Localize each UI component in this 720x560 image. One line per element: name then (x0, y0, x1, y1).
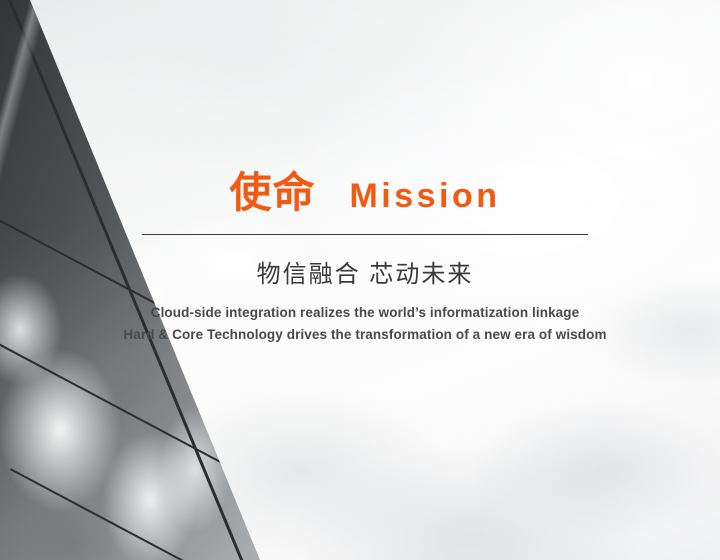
subtitle: 物信融合 芯动未来 (142, 258, 588, 292)
description-line-2: Hard & Core Technology drives the transf… (40, 324, 690, 346)
description-line-1: Cloud-side integration realizes the worl… (40, 302, 690, 324)
description-block: Cloud-side integration realizes the worl… (40, 302, 690, 346)
text-content: 使命 Mission 物信融合 芯动未来 Cloud-side integrat… (0, 0, 720, 560)
page-title: 使命 Mission (142, 172, 588, 214)
page-title-en: Mission (349, 179, 500, 213)
mission-slide: 使命 Mission 物信融合 芯动未来 Cloud-side integrat… (0, 0, 720, 560)
title-divider (142, 234, 588, 235)
page-title-cn: 使命 (229, 172, 315, 214)
